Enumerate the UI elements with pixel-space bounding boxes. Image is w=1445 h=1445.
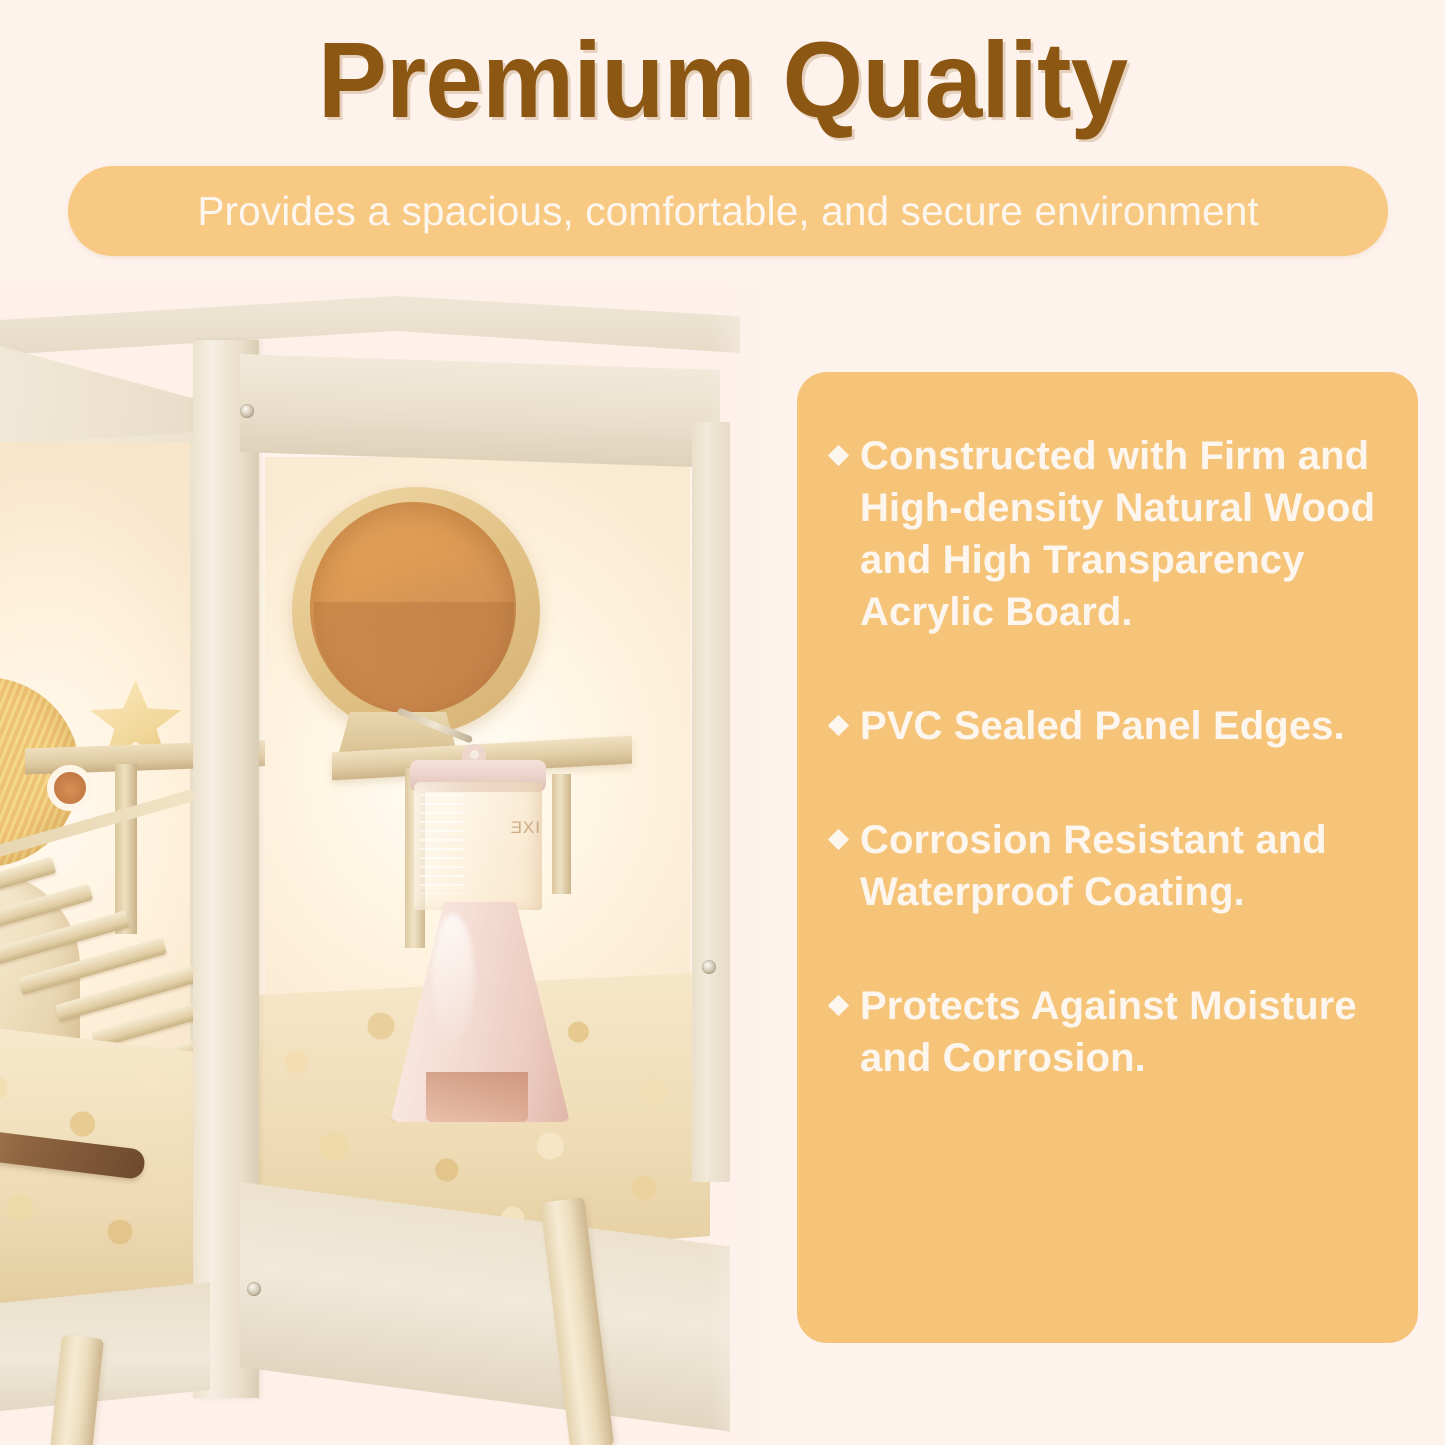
feature-bullet: Corrosion Resistant and Waterproof Coati… [831,814,1384,918]
cabinet-top-rail [240,354,720,468]
feature-bullet-text: Constructed with Firm and High-density N… [860,430,1384,638]
page-title: Premium Quality [29,26,1416,134]
diamond-bullet-icon [828,715,849,736]
feature-bullet: Constructed with Firm and High-density N… [831,430,1384,638]
photo-edge-fade [710,282,800,1445]
wheel-drum [310,502,516,714]
hideout-door-shadow [426,1072,528,1122]
bottle-hook-hole [470,750,479,759]
feature-bullet-text: PVC Sealed Panel Edges. [860,700,1384,752]
feature-bullet: Protects Against Moisture and Corrosion. [831,980,1384,1084]
ring-toy [47,765,93,811]
diamond-bullet-icon [828,995,849,1016]
feature-bullet: PVC Sealed Panel Edges. [831,700,1384,752]
shelf-leg [552,774,571,894]
subtitle-text: Provides a spacious, comfortable, and se… [197,188,1258,235]
feature-bullet-list: Constructed with Firm and High-density N… [831,430,1384,1084]
diamond-bullet-icon [828,829,849,850]
feature-panel: Constructed with Firm and High-density N… [797,372,1418,1343]
product-feature-card: Premium Quality Provides a spacious, com… [0,0,1445,1445]
bottle-label-text: IXE [488,818,540,838]
product-photo: IXE [0,282,800,1445]
diamond-bullet-icon [828,445,849,466]
cabinet-screw [240,404,254,418]
subtitle-banner: Provides a spacious, comfortable, and se… [68,166,1388,256]
wheel-shadow [314,602,514,714]
bottle-graduation-marks [420,794,464,894]
feature-bullet-text: Protects Against Moisture and Corrosion. [860,980,1384,1084]
cabinet-screw [247,1282,261,1296]
feature-bullet-text: Corrosion Resistant and Waterproof Coati… [860,814,1384,918]
exercise-wheel [292,487,540,735]
